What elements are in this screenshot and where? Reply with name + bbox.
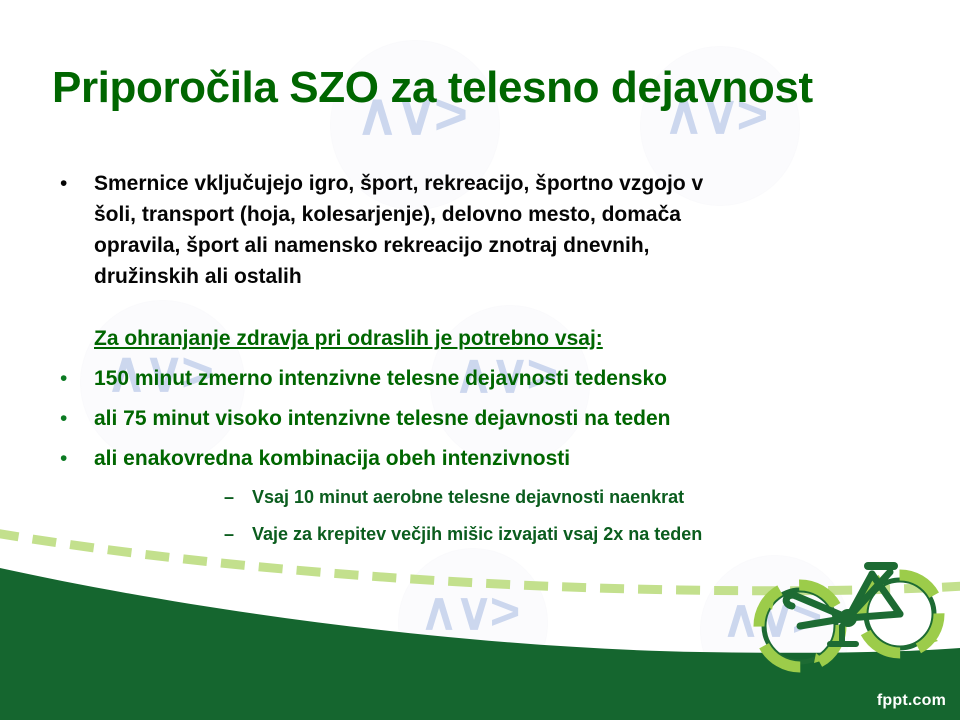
bullet-item-3: • ali 75 minut visoko intenzivne telesne… <box>52 403 932 434</box>
footer-watermark: fppt.com <box>877 692 946 710</box>
sub-bullet-item-1: – Vsaj 10 minut aerobne telesne dejavnos… <box>52 483 932 511</box>
bullet-item-2: • 150 minut zmerno intenzivne telesne de… <box>52 363 932 394</box>
bullet-text: Smernice vključujejo igro, šport, rekrea… <box>94 168 734 292</box>
sub-bullet-marker: – <box>224 483 234 511</box>
bullet-item-1: • Smernice vključujejo igro, šport, rekr… <box>52 168 932 292</box>
bullet-marker: • <box>60 443 84 474</box>
bullet-text: ali enakovredna kombinacija obeh intenzi… <box>94 443 932 474</box>
spacer <box>52 292 932 323</box>
bullet-marker: • <box>60 403 84 434</box>
slide-body: • Smernice vključujejo igro, šport, rekr… <box>52 168 932 548</box>
sub-bullet-text: Vsaj 10 minut aerobne telesne dejavnosti… <box>252 483 932 511</box>
bullet-marker: • <box>60 363 84 394</box>
section-subheading: Za ohranjanje zdravja pri odraslih je po… <box>52 323 603 354</box>
bicycle-seat <box>864 562 898 570</box>
slide-canvas: ∧∨> ∧∨> ∧∨> ∧∨> ∧∨> ∧∨> Priporočila SZO … <box>0 0 960 720</box>
slide-title: Priporočila SZO za telesno dejavnost <box>52 64 932 112</box>
bullet-marker: • <box>60 168 84 199</box>
bullet-item-4: • ali enakovredna kombinacija obeh inten… <box>52 443 932 474</box>
bullet-text: 150 minut zmerno intenzivne telesne deja… <box>94 363 932 394</box>
bullet-text: ali 75 minut visoko intenzivne telesne d… <box>94 403 932 434</box>
bicycle-illustration <box>752 548 960 678</box>
